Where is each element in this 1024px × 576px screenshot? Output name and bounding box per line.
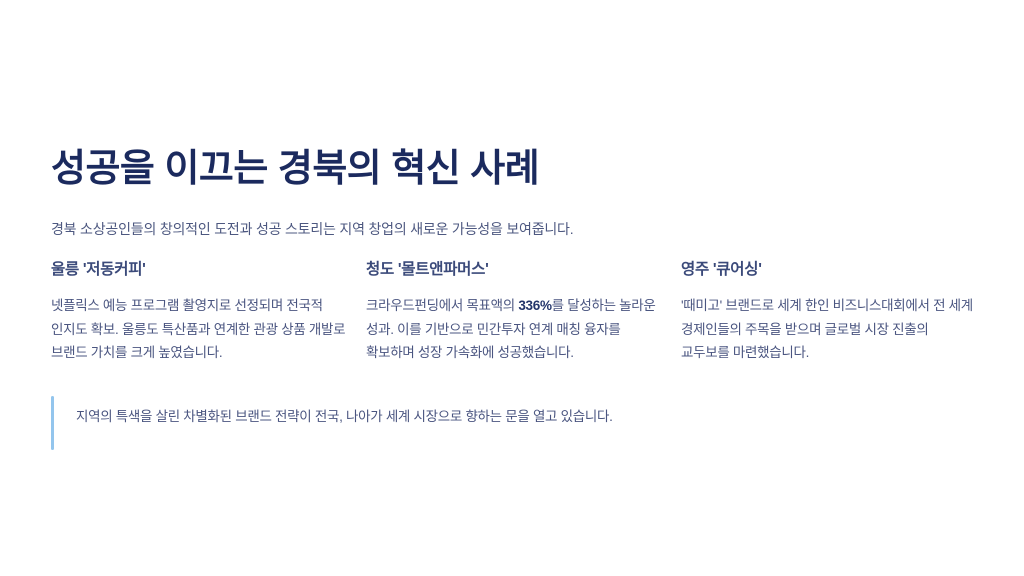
footer-callout: 지역의 특색을 살린 차별화된 브랜드 전략이 전국, 나아가 세계 시장으로 … (51, 396, 831, 450)
case-heading-cheongdo: 청도 '몰트앤파머스' (366, 260, 662, 280)
case-column-yeongju: 영주 '큐어싱' '때미고' 브랜드로 세계 한인 비즈니스대회에서 전 세계 … (681, 260, 977, 365)
case-body-yeongju: '때미고' 브랜드로 세계 한인 비즈니스대회에서 전 세계 경제인들의 주목을… (681, 294, 977, 365)
page-subtitle: 경북 소상공인들의 창의적인 도전과 성공 스토리는 지역 창업의 새로운 가능… (51, 219, 573, 240)
footer-callout-text: 지역의 특색을 살린 차별화된 브랜드 전략이 전국, 나아가 세계 시장으로 … (54, 396, 613, 450)
case-columns: 울릉 '저동커피' 넷플릭스 예능 프로그램 촬영지로 선정되며 전국적 인지도… (51, 260, 981, 365)
page-title: 성공을 이끄는 경북의 혁신 사례 (51, 146, 539, 194)
case-body-ulleung: 넷플릭스 예능 프로그램 촬영지로 선정되며 전국적 인지도 확보. 울릉도 특… (51, 294, 347, 365)
case-column-cheongdo: 청도 '몰트앤파머스' 크라우드펀딩에서 목표액의 336%를 달성하는 놀라운… (366, 260, 662, 365)
case-heading-ulleung: 울릉 '저동커피' (51, 260, 347, 280)
case-body-cheongdo-before: 크라우드펀딩에서 목표액의 (366, 298, 518, 313)
case-body-cheongdo-highlight: 336% (518, 298, 551, 313)
case-column-ulleung: 울릉 '저동커피' 넷플릭스 예능 프로그램 촬영지로 선정되며 전국적 인지도… (51, 260, 347, 365)
slide-canvas: 성공을 이끄는 경북의 혁신 사례 경북 소상공인들의 창의적인 도전과 성공 … (0, 0, 1024, 576)
case-heading-yeongju: 영주 '큐어싱' (681, 260, 977, 280)
case-body-cheongdo: 크라우드펀딩에서 목표액의 336%를 달성하는 놀라운 성과. 이를 기반으로… (366, 294, 662, 365)
